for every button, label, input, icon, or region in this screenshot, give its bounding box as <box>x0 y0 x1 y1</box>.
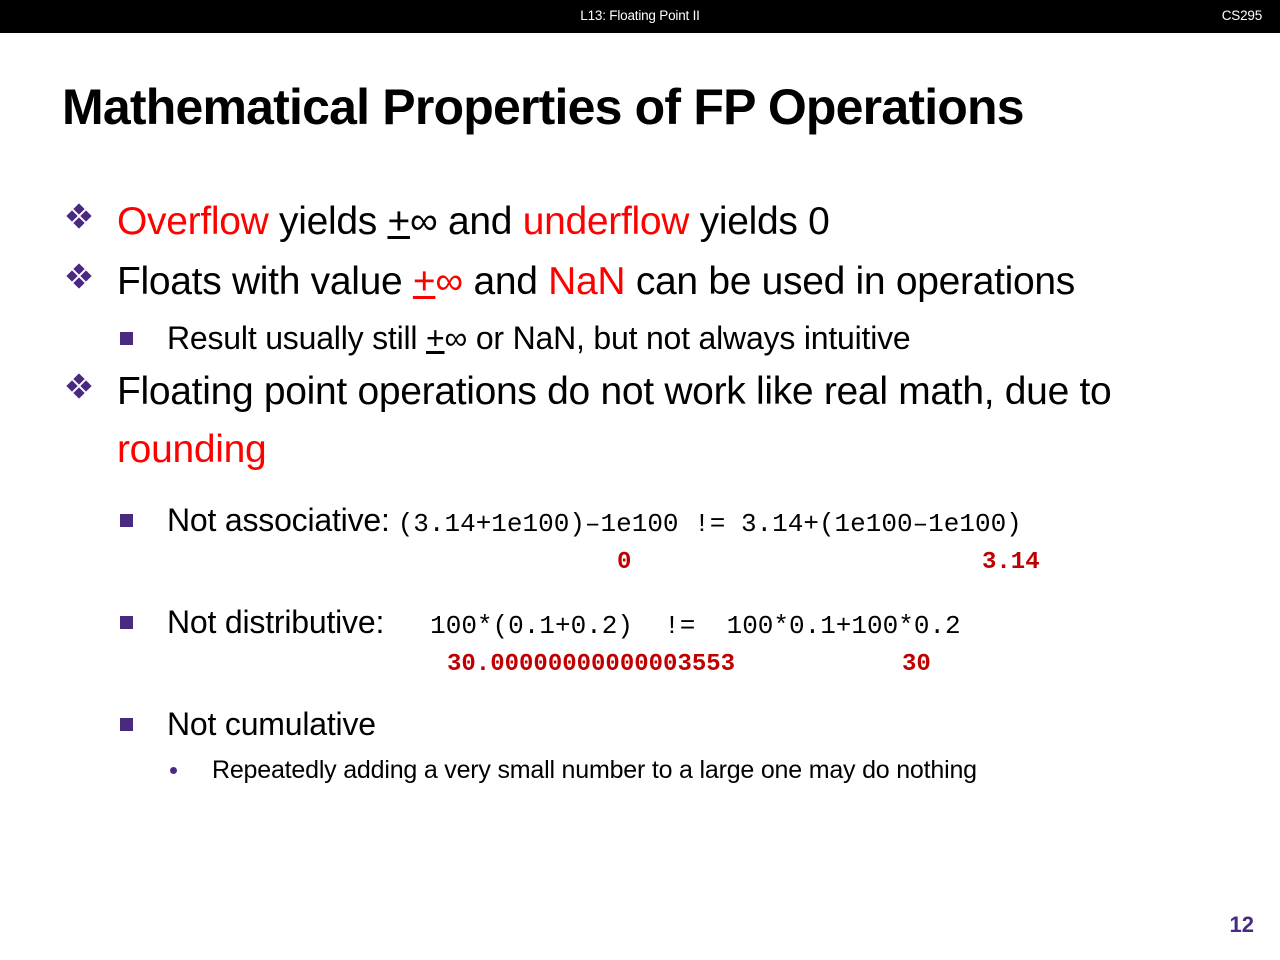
header-lecture-title: L13: Floating Point II <box>0 8 1280 23</box>
result-text-1: Result usually still <box>167 320 426 356</box>
sub-bullet-not-cumulative: Not cumulative <box>62 699 1242 749</box>
not-distributive-code: 100*(0.1+0.2) != 100*0.1+100*0.2 <box>430 611 961 641</box>
header-course-code: CS295 <box>1222 8 1262 23</box>
overflow-text-3: yields 0 <box>689 200 829 243</box>
bullet-not-real-math: Floating point operations do not work li… <box>62 363 1242 479</box>
overflow-text-1: yields <box>268 200 387 243</box>
not-cumulative-label: Not cumulative <box>167 706 376 742</box>
slide-header-bar: L13: Floating Point II CS295 <box>0 0 1280 33</box>
not-distributive-result-right: 30 <box>902 651 931 678</box>
rounding-keyword: rounding <box>117 428 266 471</box>
sub-bullet-result-usually: Result usually still +∞ or NaN, but not … <box>62 313 1242 363</box>
overflow-text-2: and <box>437 200 522 243</box>
not-distributive-annotations: 30.00000000000003553 30 <box>62 651 1242 691</box>
not-distributive-result-left: 30.00000000000003553 <box>447 651 735 678</box>
not-associative-annotations: 0 3.14 <box>62 549 1242 589</box>
not-cumulative-detail: Repeatedly adding a very small number to… <box>212 756 977 784</box>
square-bullet-icon <box>120 332 133 345</box>
page-title: Mathematical Properties of FP Operations <box>62 78 1024 136</box>
underflow-keyword: underflow <box>523 200 689 243</box>
overflow-keyword: Overflow <box>117 200 268 243</box>
bullet-floats-with-value: Floats with value +∞ and NaN can be used… <box>62 253 1242 311</box>
slide-content: Overflow yields +∞ and underflow yields … <box>62 193 1242 791</box>
infinity-symbol: ∞ <box>445 320 468 356</box>
sub-bullet-not-associative: Not associative:(3.14+1e100)–1e100 != 3.… <box>62 495 1242 549</box>
floats-text-2: and <box>463 260 548 303</box>
bullet-overflow-underflow: Overflow yields +∞ and underflow yields … <box>62 193 1242 251</box>
infinity-symbol: ∞ <box>410 200 438 243</box>
detail-bullet-repeated-adding: Repeatedly adding a very small number to… <box>62 749 1242 791</box>
floats-text-3: can be used in operations <box>625 260 1075 303</box>
slide-page-number: 12 <box>1230 912 1254 938</box>
not-associative-result-right: 3.14 <box>982 549 1040 576</box>
square-bullet-icon <box>120 514 133 527</box>
square-bullet-icon <box>120 718 133 731</box>
plus-minus-sign: + <box>413 260 435 303</box>
square-bullet-icon <box>120 616 133 629</box>
result-text-2: or NaN, but not always intuitive <box>467 320 910 356</box>
diamond-bullet-icon <box>68 375 94 401</box>
plus-minus-sign: + <box>387 200 409 243</box>
not-associative-code: (3.14+1e100)–1e100 != 3.14+(1e100–1e100) <box>398 509 1022 539</box>
plus-minus-sign: + <box>426 320 445 356</box>
diamond-bullet-icon <box>68 205 94 231</box>
infinity-symbol: ∞ <box>435 260 463 303</box>
dot-bullet-icon <box>170 767 177 774</box>
nan-keyword: NaN <box>548 260 625 303</box>
not-distributive-label: Not distributive: <box>167 604 384 640</box>
sub-bullet-not-distributive: Not distributive:100*(0.1+0.2) != 100*0.… <box>62 597 1242 651</box>
not-associative-label: Not associative: <box>167 502 390 538</box>
real-math-text: Floating point operations do not work li… <box>117 370 1111 413</box>
floats-text-1: Floats with value <box>117 260 413 303</box>
not-associative-result-left: 0 <box>617 549 631 576</box>
diamond-bullet-icon <box>68 265 94 291</box>
